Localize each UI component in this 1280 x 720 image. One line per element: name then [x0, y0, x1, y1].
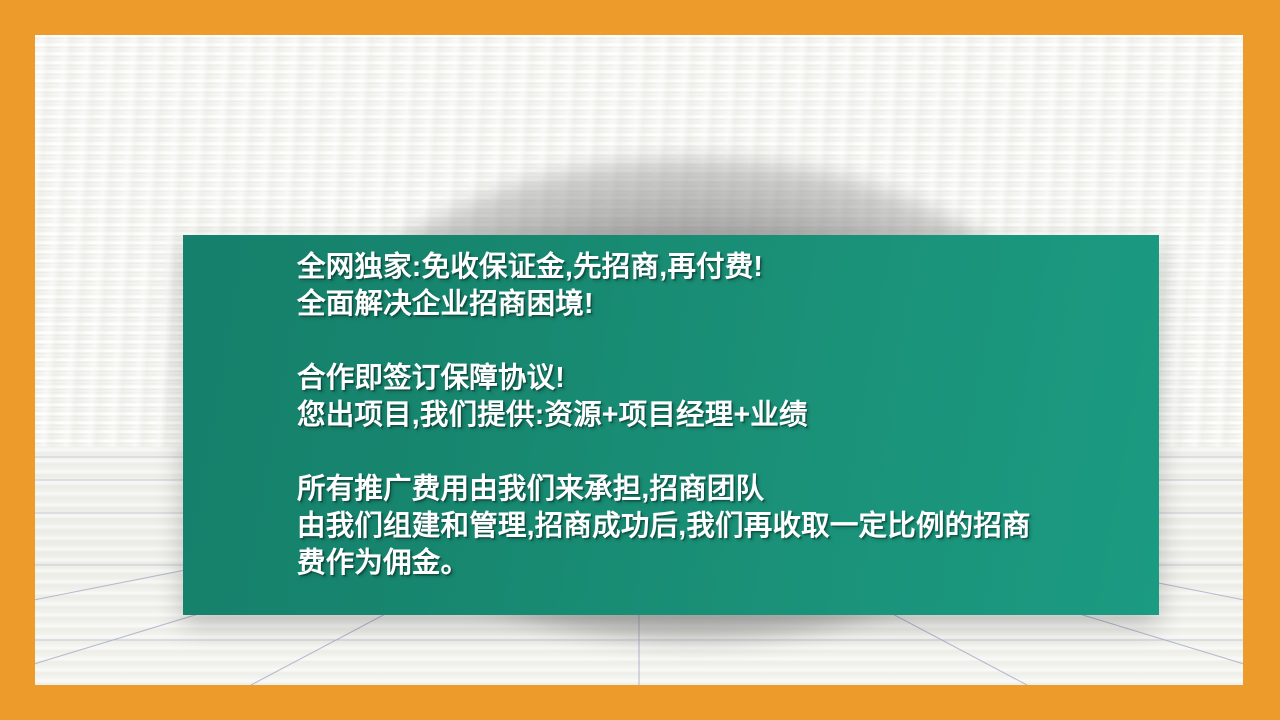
promo-line: 全面解决企业招商困境!	[297, 286, 1147, 323]
promo-line: 由我们组建和管理,招商成功后,我们再收取一定比例的招商	[297, 508, 1147, 545]
border-right	[1243, 0, 1280, 720]
promo-text-block: 全网独家:免收保证金,先招商,再付费! 全面解决企业招商困境! 合作即签订保障协…	[297, 249, 1147, 582]
border-left	[0, 0, 35, 720]
promo-line: 所有推广费用由我们来承担,招商团队	[297, 471, 1147, 508]
promo-line: 合作即签订保障协议!	[297, 360, 1147, 397]
promo-line: 全网独家:免收保证金,先招商,再付费!	[297, 249, 1147, 286]
room-background: 全网独家:免收保证金,先招商,再付费! 全面解决企业招商困境! 合作即签订保障协…	[35, 35, 1243, 685]
promo-line: 费作为佣金。	[297, 545, 1147, 582]
promo-card: 全网独家:免收保证金,先招商,再付费! 全面解决企业招商困境! 合作即签订保障协…	[183, 235, 1159, 615]
border-bottom	[0, 685, 1280, 720]
promo-line: 您出项目,我们提供:资源+项目经理+业绩	[297, 397, 1147, 434]
paragraph-spacer	[297, 434, 1147, 471]
paragraph-spacer	[297, 323, 1147, 360]
slide-canvas: 全网独家:免收保证金,先招商,再付费! 全面解决企业招商困境! 合作即签订保障协…	[0, 0, 1280, 720]
border-top	[0, 0, 1280, 35]
